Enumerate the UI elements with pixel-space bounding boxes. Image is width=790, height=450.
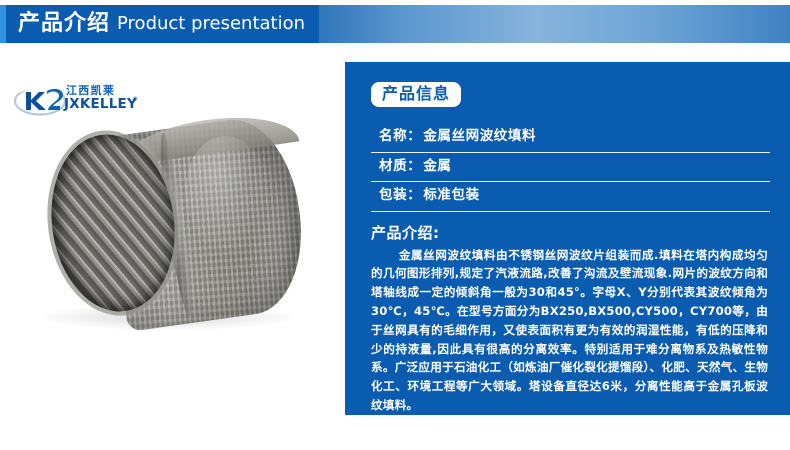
page-title-cn: 产品介绍 (18, 13, 110, 35)
product-image (18, 118, 330, 350)
header-title-block: 产品介绍 Product presentation (6, 5, 319, 43)
spec-label-material: 材质： (379, 158, 421, 174)
page-title-en: Product presentation (117, 15, 305, 33)
product-info-panel: 产品信息 名称：金属丝网波纹填料 材质：金属 包装：标准包装 产品介绍: 金属丝… (345, 62, 790, 415)
spec-value-material: 金属 (423, 158, 451, 174)
header-gradient-fill (319, 5, 790, 43)
product-intro-title: 产品介绍: (371, 224, 776, 242)
spec-row-name: 名称：金属丝网波纹填料 (371, 123, 770, 153)
spec-row-material: 材质：金属 (371, 153, 770, 183)
logo-wordmark: 江西凯莱 JXKELLEY (64, 85, 137, 112)
product-intro-body: 金属丝网波纹填料由不锈钢丝网波纹片组装而成.填料在塔内构成均匀的几何图形排列,规… (371, 246, 768, 415)
logo-text-cn: 江西凯莱 (66, 85, 137, 96)
product-info-badge: 产品信息 (371, 82, 461, 107)
spec-label-packaging: 包装： (379, 187, 421, 203)
spec-value-packaging: 标准包装 (423, 187, 479, 203)
spec-row-packaging: 包装：标准包装 (371, 182, 770, 212)
product-spec-list: 名称：金属丝网波纹填料 材质：金属 包装：标准包装 (371, 123, 770, 212)
page-header: 产品介绍 Product presentation (0, 5, 790, 43)
spec-value-name: 金属丝网波纹填料 (423, 128, 536, 144)
registered-trademark-icon: ® (132, 96, 138, 103)
logo-text-en: JXKELLEY (64, 98, 137, 112)
logo-k2-mark-icon (14, 84, 70, 118)
product-photo-area: 江西凯莱 JXKELLEY ® (0, 58, 345, 418)
spec-label-name: 名称： (379, 128, 421, 144)
